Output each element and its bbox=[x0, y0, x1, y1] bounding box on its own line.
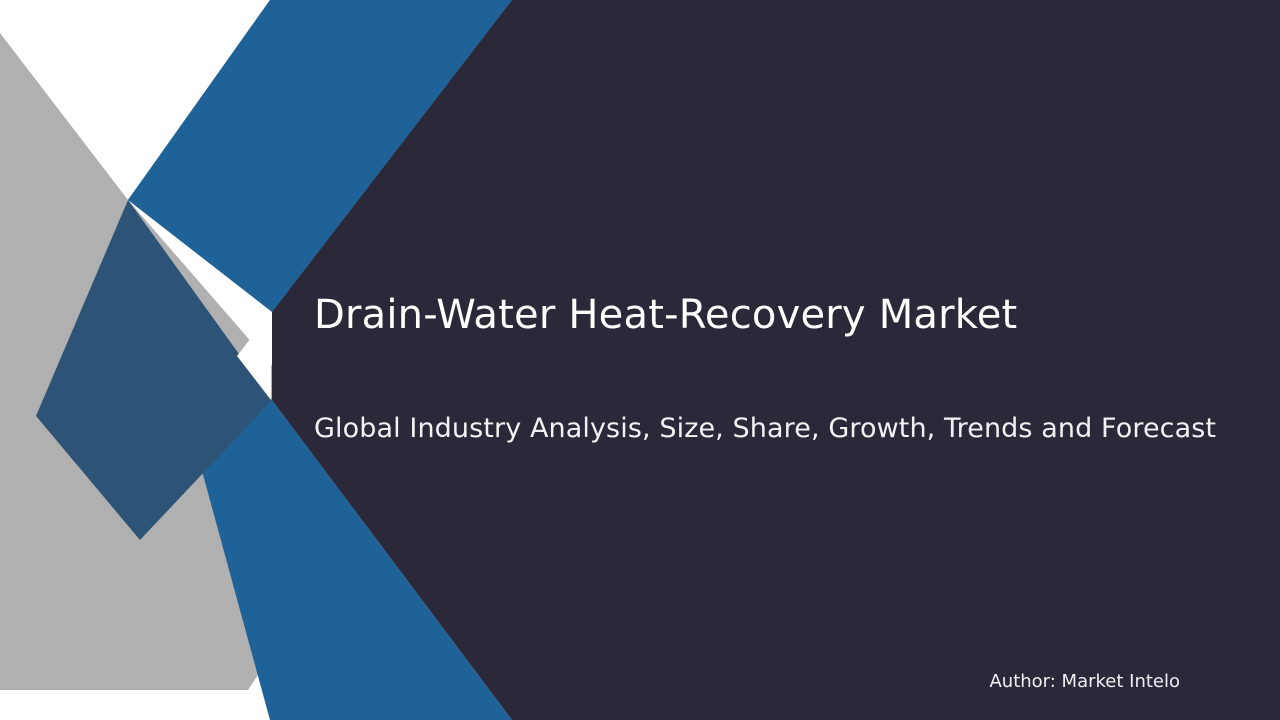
slide-subtitle: Global Industry Analysis, Size, Share, G… bbox=[314, 410, 1244, 448]
slide-content: Drain-Water Heat-Recovery Market Global … bbox=[0, 0, 1280, 720]
author-credit: Author: Market Intelo bbox=[760, 669, 1180, 695]
title-slide: Drain-Water Heat-Recovery Market Global … bbox=[0, 0, 1280, 720]
page-title: Drain-Water Heat-Recovery Market bbox=[314, 289, 1214, 341]
